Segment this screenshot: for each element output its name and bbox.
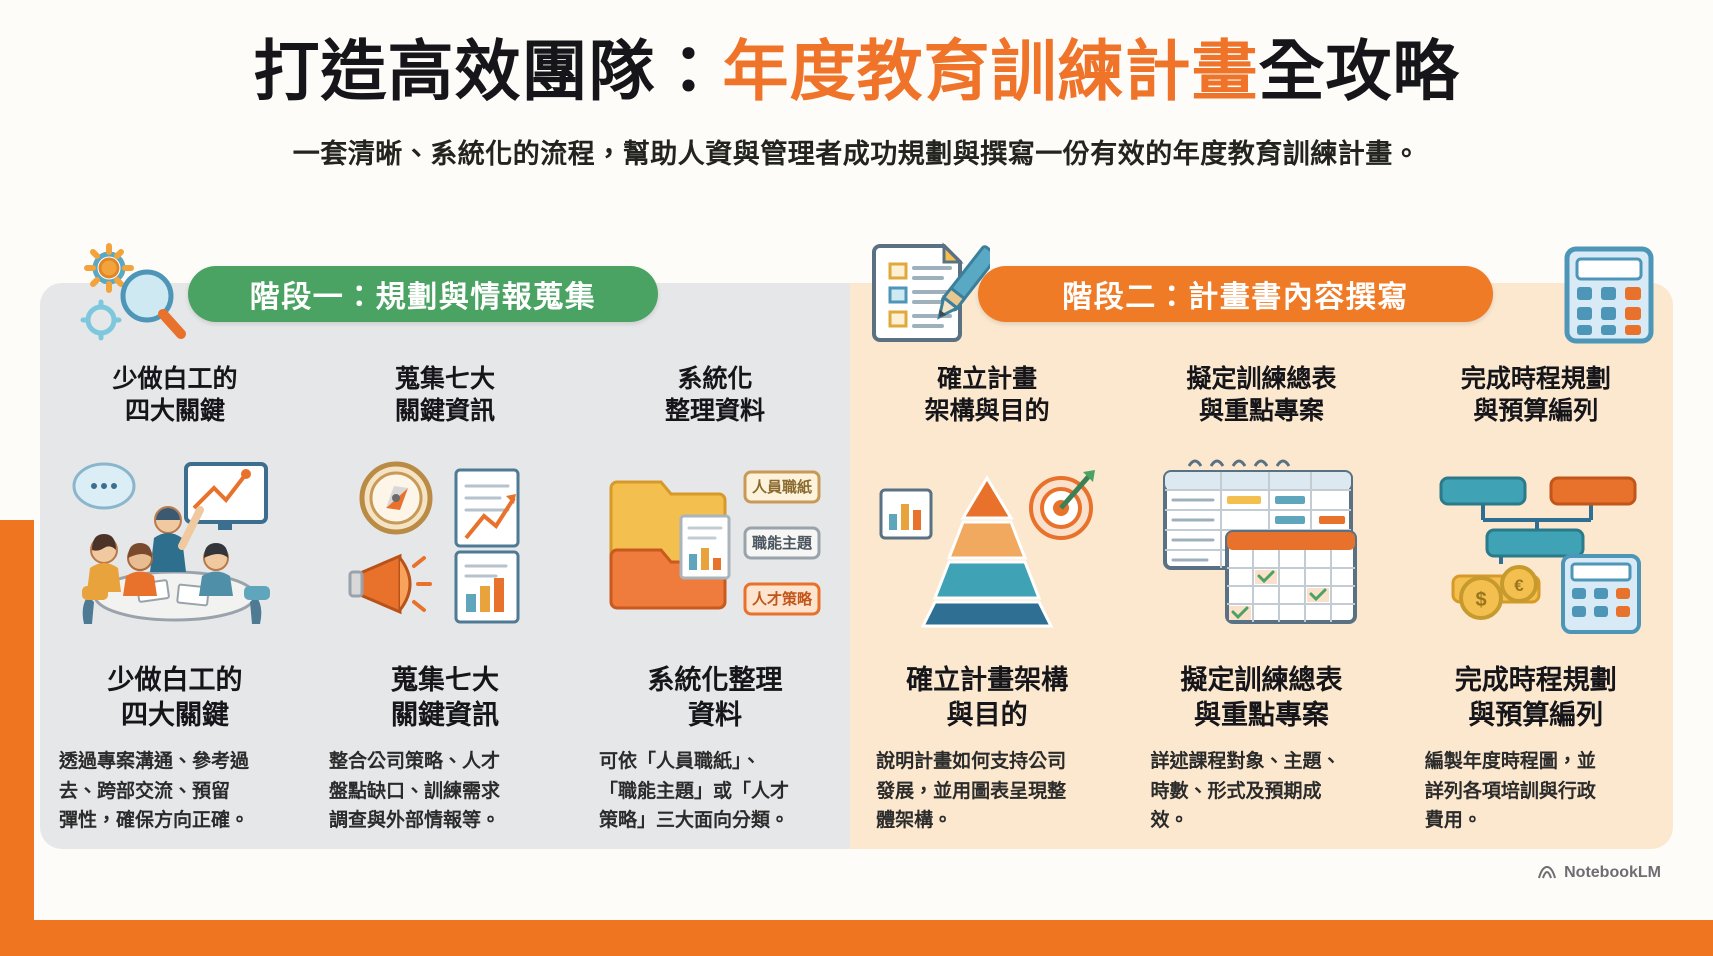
card-top-title: 系統化 整理資料 xyxy=(665,363,765,427)
page-title: 打造高效團隊：年度教育訓練計畫全攻略 xyxy=(0,34,1713,110)
page-title-part2: 全攻略 xyxy=(1259,34,1460,108)
stage-1-cards: 少做白工的 四大關鍵 xyxy=(40,359,850,849)
stages-container: 階段一：規劃與情報蒐集 少做白工的 四大關鍵 xyxy=(40,283,1673,849)
gear-magnifier-icon xyxy=(75,238,193,348)
card-heading: 擬定訓練總表 與重點專案 xyxy=(1180,663,1342,733)
compass-megaphone-chart-illustration xyxy=(324,441,566,641)
stage-2-pill: 階段二：計畫書內容撰寫 xyxy=(978,266,1493,322)
card-stage2-1[interactable]: 確立計畫 架構與目的 xyxy=(850,359,1124,849)
card-heading: 確立計畫架構 與目的 xyxy=(906,663,1068,733)
header: 打造高效團隊：年度教育訓練計畫全攻略 一套清晰、系統化的流程，幫助人資與管理者成… xyxy=(0,34,1713,171)
decorative-bottom-inner xyxy=(34,892,1713,920)
dollar-coin-label: $ xyxy=(1476,589,1487,611)
card-stage2-3[interactable]: 完成時程規劃 與預算編列 $ xyxy=(1399,359,1673,849)
card-heading: 少做白工的 四大關鍵 xyxy=(108,663,243,733)
card-heading: 完成時程規劃 與預算編列 xyxy=(1455,663,1617,733)
euro-coin-label: € xyxy=(1515,576,1525,595)
card-body: 整合公司策略、人才 盤點缺口、訓練需求 調查與外部情報等。 xyxy=(329,747,561,835)
card-heading: 系統化整理 資料 xyxy=(648,663,783,733)
card-top-title: 擬定訓練總表 與重點專案 xyxy=(1186,363,1336,427)
card-body: 詳述課程對象、主題、 時數、形式及預期成 效。 xyxy=(1150,747,1372,835)
card-body: 可依「人員職紙」、 「職能主題」或「人才 策略」三大面向分類。 xyxy=(599,747,831,835)
card-stage1-3[interactable]: 系統化 整理資料 xyxy=(580,359,850,849)
card-body: 說明計畫如何支持公司 發展，並用圖表呈現整 體架構。 xyxy=(876,747,1098,835)
watermark-label: NotebookLM xyxy=(1564,864,1661,882)
folder-tag-label-3: 人才策略 xyxy=(751,590,812,608)
card-top-title: 確立計畫 架構與目的 xyxy=(925,363,1050,427)
gantt-calculator-coins-illustration: $ € xyxy=(1413,441,1659,641)
card-body: 透過專案溝通、參考過 去、跨部交流、預留 彈性，確保方向正確。 xyxy=(59,747,291,835)
notebooklm-logo-icon xyxy=(1537,865,1557,881)
page-title-part1: 打造高效團隊： xyxy=(254,34,723,108)
card-stage2-2[interactable]: 擬定訓練總表 與重點專案 xyxy=(1124,359,1398,849)
card-body: 編製年度時程圖，並 詳列各項培訓與行政 費用。 xyxy=(1425,747,1647,835)
decorative-bottom-edge xyxy=(0,920,1713,956)
stage-1-label: 階段一：規劃與情報蒐集 xyxy=(250,272,597,316)
stage-panel-2: 階段二：計畫書內容撰寫 xyxy=(850,283,1673,849)
decorative-left-edge xyxy=(0,520,34,956)
calculator-icon xyxy=(1555,241,1663,347)
checklist-pencil-icon xyxy=(870,238,990,346)
stage-panel-1: 階段一：規劃與情報蒐集 少做白工的 四大關鍵 xyxy=(40,283,850,849)
stage-2-cards: 確立計畫 架構與目的 xyxy=(850,359,1673,849)
folders-tags-illustration: 人員職紙 職能主題 人才策略 xyxy=(594,441,836,641)
spreadsheet-calendar-illustration xyxy=(1138,441,1384,641)
watermark: NotebookLM xyxy=(1537,864,1661,882)
stage-2-label: 階段二：計畫書內容撰寫 xyxy=(1062,272,1409,316)
folder-tag-label-2: 職能主題 xyxy=(751,534,812,552)
infographic-page: 打造高效團隊：年度教育訓練計畫全攻略 一套清晰、系統化的流程，幫助人資與管理者成… xyxy=(0,0,1713,956)
card-top-title: 完成時程規劃 與預算編列 xyxy=(1461,363,1611,427)
page-title-accent: 年度教育訓練計畫 xyxy=(723,34,1259,108)
stage-1-pill: 階段一：規劃與情報蒐集 xyxy=(188,266,658,322)
card-top-title: 蒐集七大 關鍵資訊 xyxy=(395,363,495,427)
card-stage1-2[interactable]: 蒐集七大 關鍵資訊 xyxy=(310,359,580,849)
card-top-title: 少做白工的 四大關鍵 xyxy=(112,363,237,427)
card-stage1-1[interactable]: 少做白工的 四大關鍵 xyxy=(40,359,310,849)
card-heading: 蒐集七大 關鍵資訊 xyxy=(391,663,499,733)
page-subtitle: 一套清晰、系統化的流程，幫助人資與管理者成功規劃與撰寫一份有效的年度教育訓練計畫… xyxy=(0,132,1713,171)
folder-tag-label-1: 人員職紙 xyxy=(751,478,811,496)
team-meeting-illustration xyxy=(54,441,296,641)
pyramid-target-chart-illustration xyxy=(864,441,1110,641)
